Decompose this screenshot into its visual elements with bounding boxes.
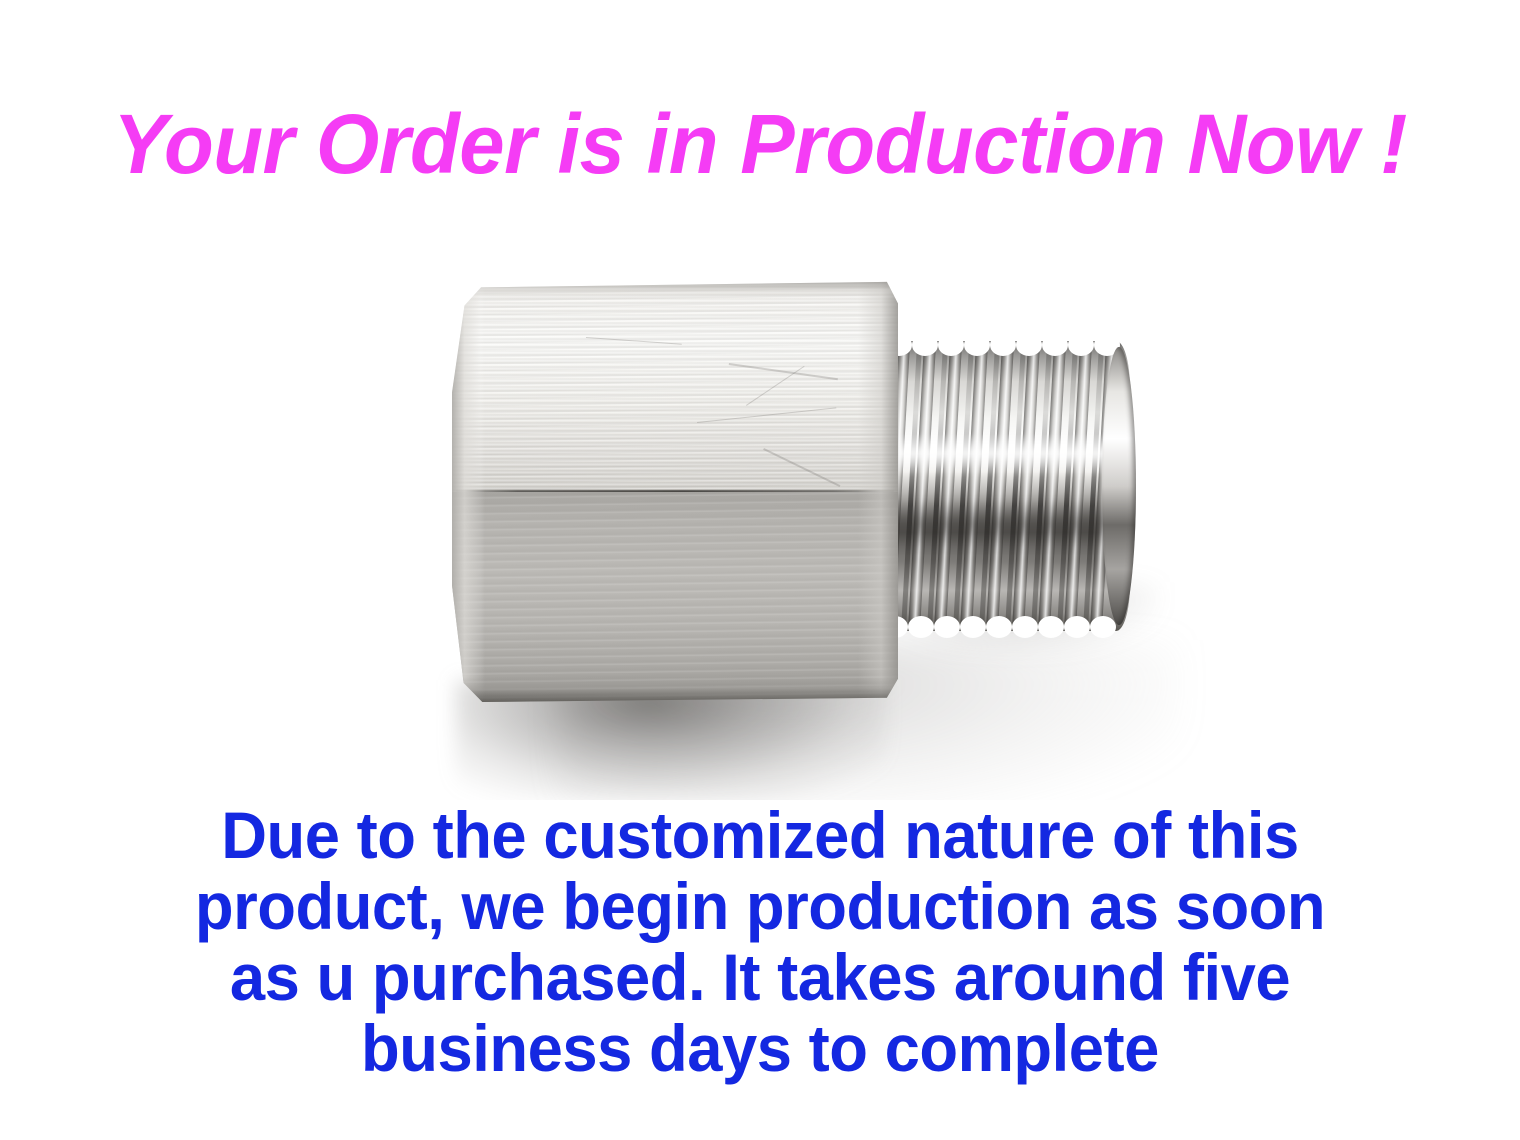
notice-line-1: Due to the customized nature of this [30, 800, 1489, 871]
hex-top-bevel [452, 278, 898, 299]
male-threaded-nipple [862, 341, 1130, 631]
hex-top-striations-secondary [452, 278, 898, 492]
page-title: Your Order is in Production Now ! [23, 96, 1497, 192]
hex-bottom-bevel [452, 677, 898, 702]
promo-poster: Your Order is in Production Now ! [0, 0, 1520, 1140]
notice-line-3: as u purchased. It takes around five [30, 942, 1489, 1013]
production-notice: Due to the customized nature of this pro… [0, 800, 1520, 1084]
thread-end-cap [1102, 347, 1136, 625]
product-photo [0, 210, 1520, 800]
hex-body [452, 278, 898, 702]
notice-line-2: product, we begin production as soon [30, 871, 1489, 942]
hex-bottom-striations [452, 492, 898, 702]
thread-ridges [862, 341, 1130, 631]
hex-right-chamfer [858, 278, 898, 702]
notice-line-4: business days to complete [30, 1013, 1489, 1084]
hex-left-chamfer [452, 278, 485, 702]
